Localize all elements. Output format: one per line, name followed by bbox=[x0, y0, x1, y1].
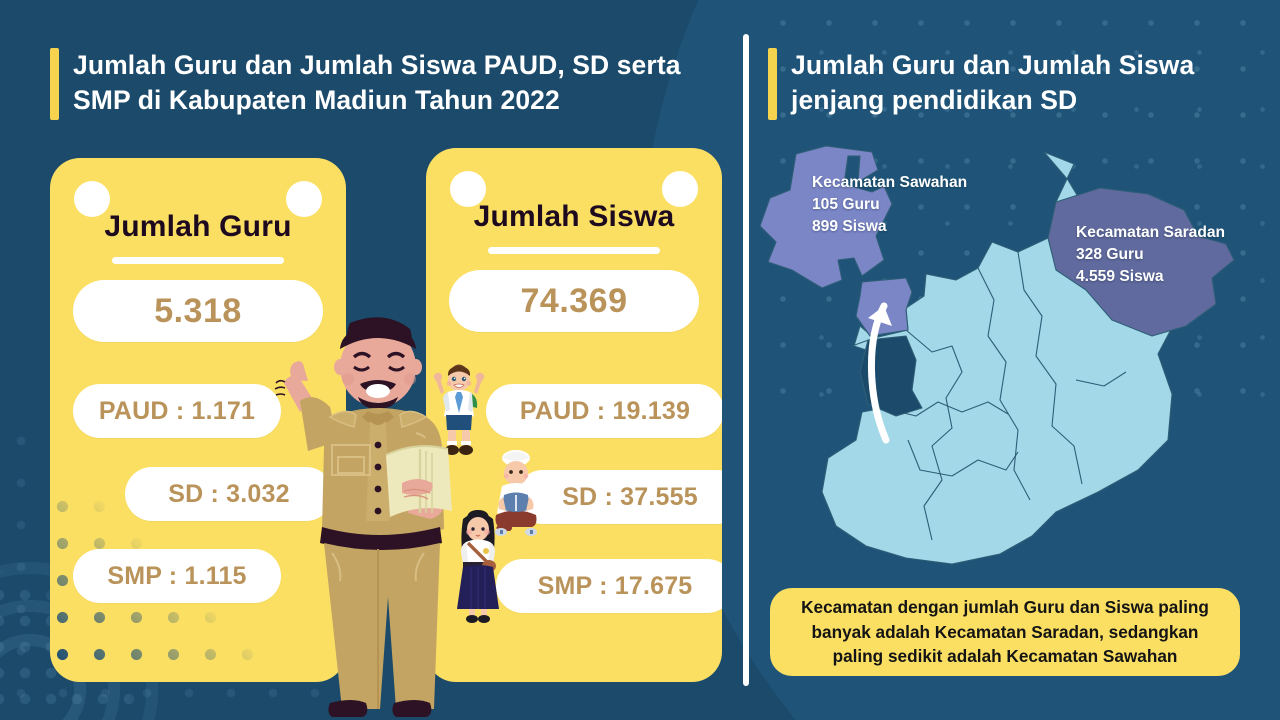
heading-accent-bar bbox=[50, 48, 59, 120]
right-panel-title: Jumlah Guru dan Jumlah Siswa jenjang pen… bbox=[791, 48, 1194, 118]
teacher-illustration bbox=[270, 305, 485, 720]
siswa-total-value: 74.369 bbox=[449, 270, 699, 332]
guru-paud-value: PAUD : 1.171 bbox=[73, 384, 281, 438]
siswa-paud-value: PAUD : 19.139 bbox=[486, 384, 722, 438]
siswa-smp-value: SMP : 17.675 bbox=[496, 559, 722, 613]
card-title-siswa: Jumlah Siswa bbox=[426, 200, 722, 234]
left-panel-heading: Jumlah Guru dan Jumlah Siswa PAUD, SD se… bbox=[50, 48, 681, 120]
panel-divider bbox=[743, 34, 749, 686]
left-panel-title: Jumlah Guru dan Jumlah Siswa PAUD, SD se… bbox=[73, 48, 681, 118]
summary-note-text: Kecamatan dengan jumlah Guru dan Siswa p… bbox=[801, 595, 1209, 668]
heading-accent-bar bbox=[768, 48, 777, 120]
map-label-saradan: Kecamatan Saradan 328 Guru 4.559 Siswa bbox=[1076, 222, 1225, 288]
summary-note-box: Kecamatan dengan jumlah Guru dan Siswa p… bbox=[770, 588, 1240, 676]
guru-smp-value: SMP : 1.115 bbox=[73, 549, 281, 603]
right-panel-heading: Jumlah Guru dan Jumlah Siswa jenjang pen… bbox=[768, 48, 1194, 120]
card-title-underline bbox=[488, 247, 660, 254]
card-title-guru: Jumlah Guru bbox=[50, 210, 346, 244]
card-title-underline bbox=[112, 257, 284, 264]
map-label-sawahan: Kecamatan Sawahan 105 Guru 899 Siswa bbox=[812, 172, 967, 238]
